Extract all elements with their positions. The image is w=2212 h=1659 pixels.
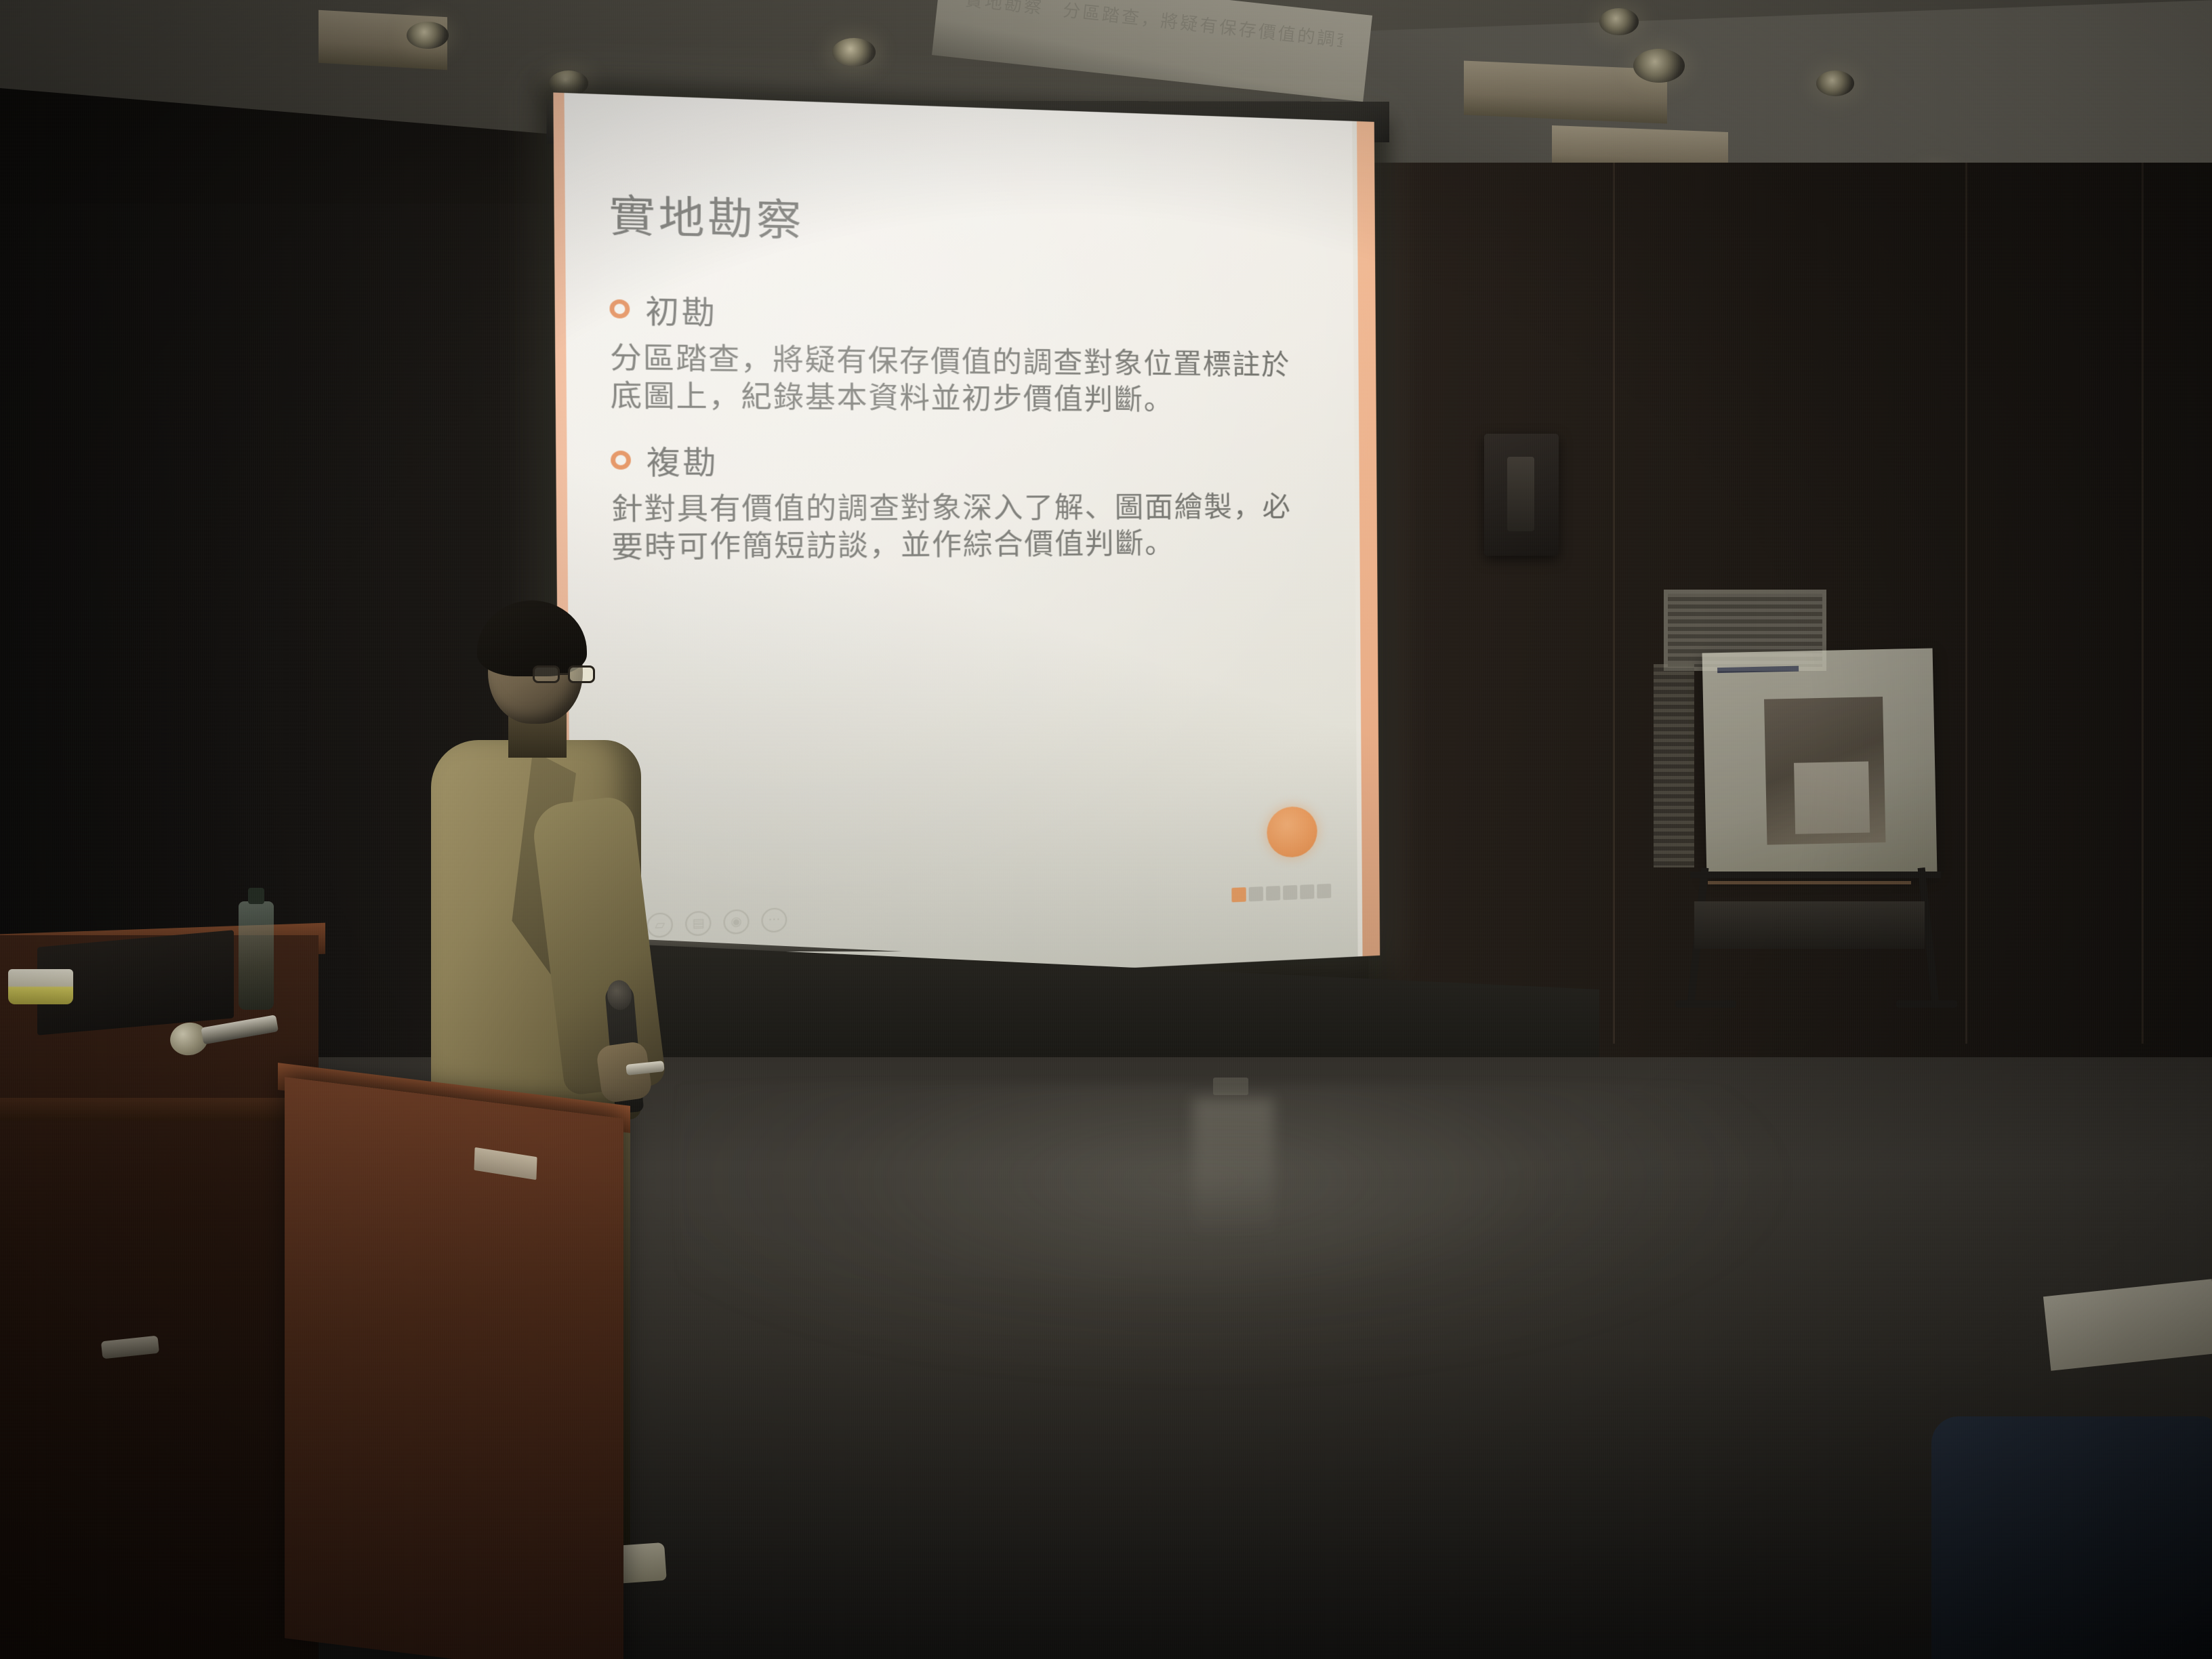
- poster-header-bar: [1717, 666, 1799, 674]
- foreground-audience-seat: [1931, 1416, 2212, 1659]
- bullet-label: 複勘: [647, 437, 719, 484]
- floor-socket: [1213, 1078, 1248, 1095]
- ceiling-downlight-icon: [407, 22, 449, 49]
- progress-segment: [1317, 884, 1331, 899]
- progress-segment: [1300, 884, 1314, 899]
- slide-bullet-heading: 複勘: [611, 437, 1316, 484]
- more-options-icon[interactable]: ···: [761, 907, 787, 933]
- slide-progress-segments: [1231, 884, 1331, 903]
- laser-pointer-icon[interactable]: ◉: [723, 909, 749, 935]
- progress-segment: [1231, 887, 1246, 902]
- wall-panel-seam: [2142, 163, 2144, 1044]
- slide-title: 實地勘察: [609, 181, 1315, 260]
- floor-light-reflection: [1193, 1098, 1274, 1240]
- bullet-body-text: 針對具有價值的調查對象深入了解、圖面繪製，必要時可作簡短訪談，並作綜合價值判斷。: [611, 489, 1316, 567]
- slide-accent-circle: [1267, 806, 1317, 858]
- bullet-body-text: 分區踏查，將疑有保存價值的調查對象位置標註於底圖上，紀錄基本資料並初步價值判斷。: [610, 340, 1316, 419]
- desk-front: [0, 935, 319, 1659]
- podium: [285, 1077, 623, 1659]
- ceiling-downlight-icon: [1816, 70, 1854, 96]
- slide-bullet-heading: 初勘: [609, 285, 1315, 342]
- progress-segment: [1266, 886, 1280, 901]
- ring-bullet-icon: [609, 300, 630, 319]
- ceiling-downlight-icon: [1633, 49, 1685, 83]
- wall-panel-seam: [1965, 163, 1967, 1044]
- poster-board: [1702, 648, 1938, 876]
- desk-shelf: [0, 1098, 291, 1121]
- progress-segment: [1283, 885, 1297, 900]
- shelf-edge: [1708, 881, 1911, 884]
- ceiling-downlight-icon: [1599, 8, 1639, 35]
- air-vent-side: [1654, 664, 1694, 867]
- ceiling-downlight-icon: [832, 38, 876, 66]
- wall-panel-seam: [1613, 163, 1615, 1044]
- water-bottle: [239, 901, 274, 1010]
- wall-speaker: [1484, 434, 1559, 556]
- lecture-hall-scene: 實地勘察 分區踏查，將疑有保存價值的調查對象位置標註於底圖上，紀錄基本資料 實地…: [0, 0, 2212, 1659]
- side-shelf: [1694, 901, 1925, 949]
- glasses-icon: [533, 665, 595, 686]
- progress-segment: [1249, 886, 1263, 901]
- paper-cup: [8, 969, 73, 1004]
- ring-bullet-icon: [611, 451, 631, 470]
- slide-content: 實地勘察 初勘 分區踏查，將疑有保存價值的調查對象位置標註於底圖上，紀錄基本資料…: [609, 181, 1317, 589]
- poster-photo: [1764, 697, 1885, 845]
- bullet-label: 初勘: [645, 286, 718, 333]
